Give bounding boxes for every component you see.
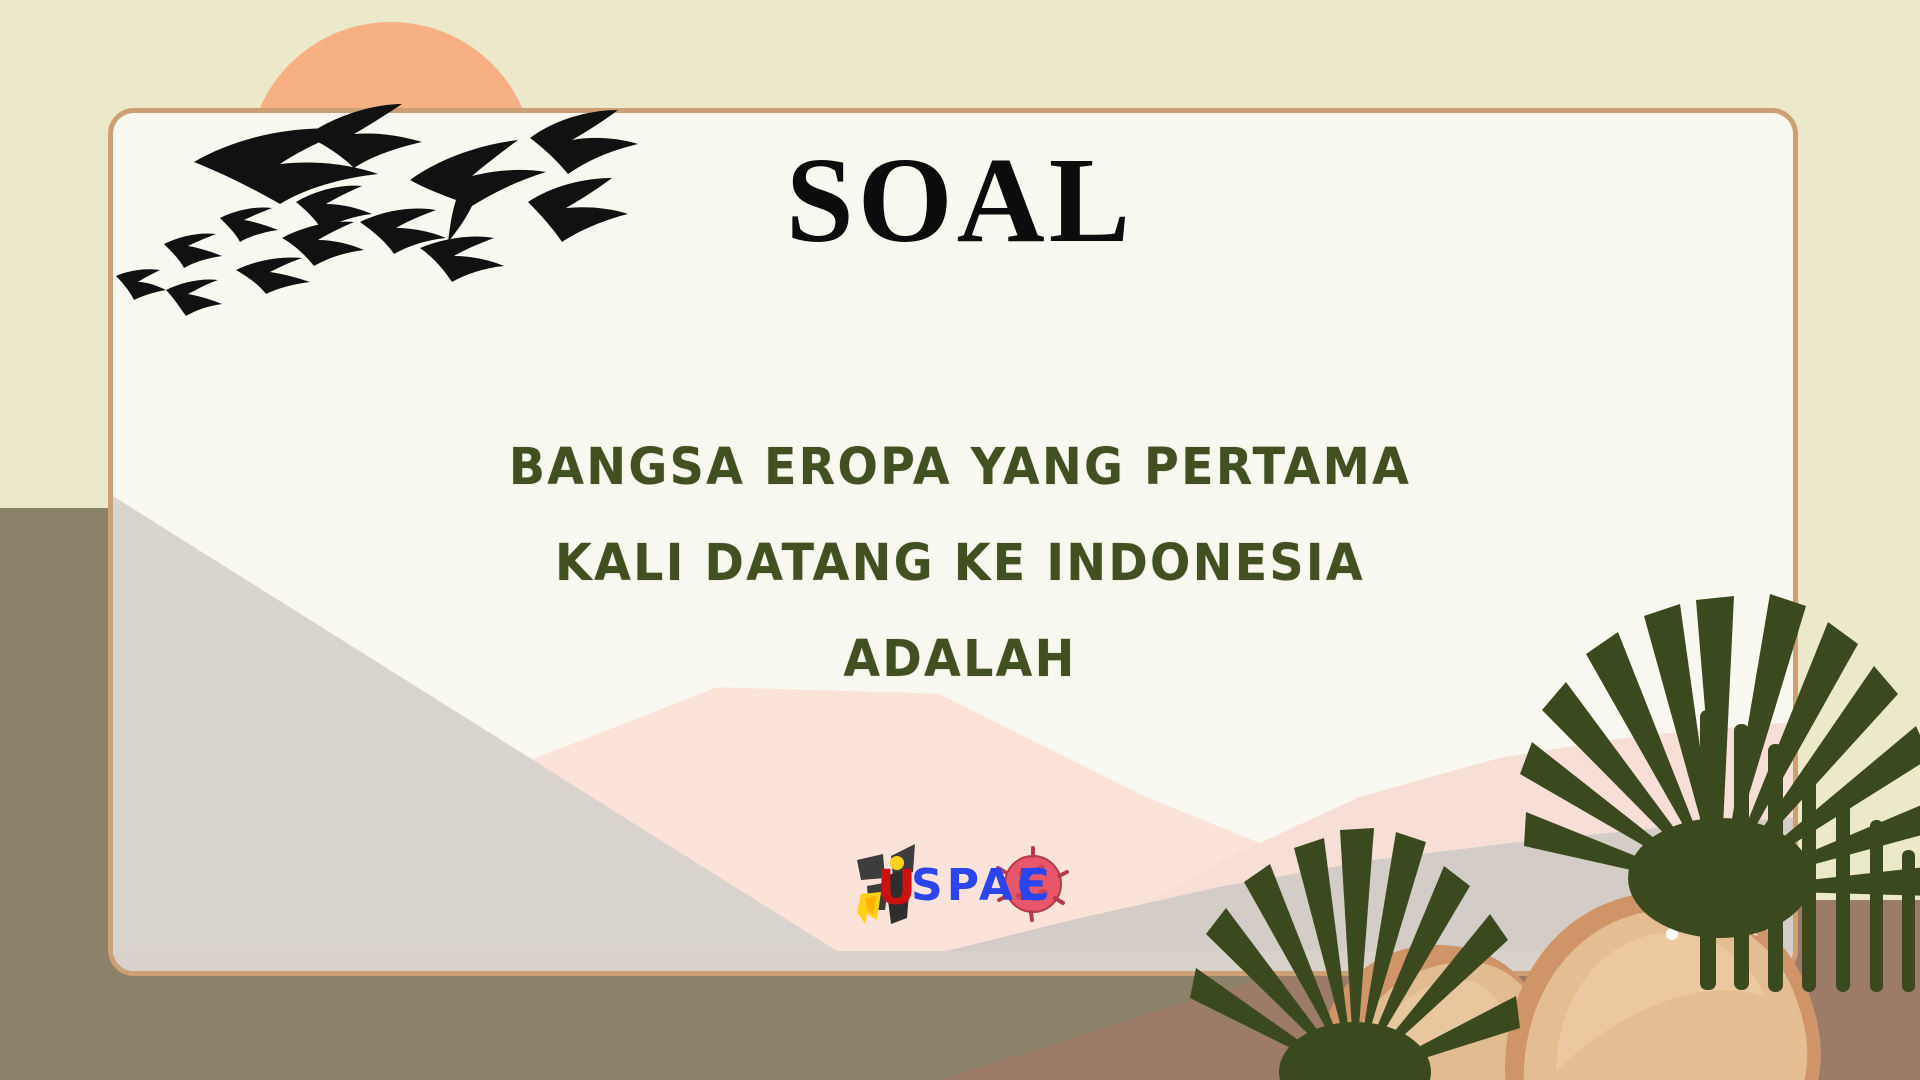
question-line-1: BANGSA EROPA YANG PERTAMA bbox=[67, 420, 1853, 516]
uspace-logo: U SPAC E bbox=[855, 838, 1070, 958]
page-title: SOAL bbox=[0, 140, 1920, 262]
slide-canvas: SOAL BANGSA EROPA YANG PERTAMA KALI DATA… bbox=[0, 0, 1920, 1080]
palm-frond-strips bbox=[1690, 700, 1920, 1000]
logo-letter-e: E bbox=[1017, 860, 1047, 911]
palm-frond-small bbox=[1190, 790, 1520, 1080]
